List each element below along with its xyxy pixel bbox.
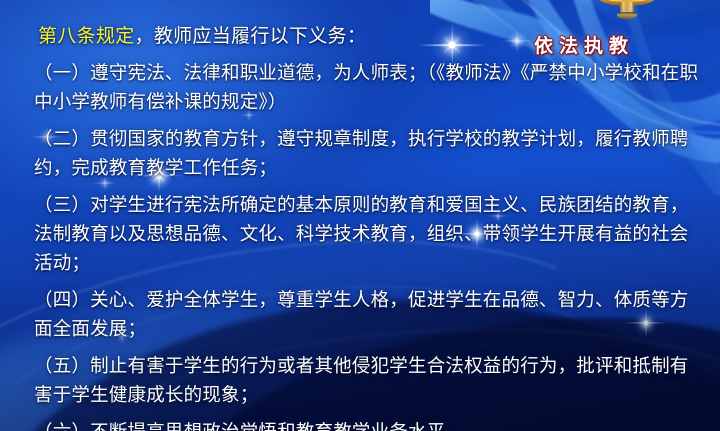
clause-item: （二）贯彻国家的教育方针，遵守规章制度，执行学校的教学计划，履行教师聘约，完成教… — [34, 125, 702, 183]
clause-item: （三）对学生进行宪法所确定的基本原则的教育和爱国主义、民族团结的教育，法制教育以… — [34, 191, 702, 278]
clause-item: （四）关心、爱护全体学生，尊重学生人格，促进学生在品德、智力、体质等方面全面发展… — [34, 286, 702, 344]
page-title-rest: ，教师应当履行以下义务： — [135, 25, 367, 47]
clause-item: （五）制止有害于学生的行为或者其他侵犯学生合法权益的行为，批评和抵制有害于学生健… — [34, 352, 702, 410]
clause-item: （六）不断提高思想政治觉悟和教育教学业务水平。 — [34, 418, 702, 431]
page-title-highlight: 第八条规定 — [38, 25, 135, 47]
slide-body: 第八条规定，教师应当履行以下义务： （一）遵守宪法、法律和职业道德，为人师表；（… — [0, 0, 720, 431]
presentation-slide: 依法执教 — [0, 0, 720, 431]
page-title: 第八条规定，教师应当履行以下义务： — [38, 22, 706, 50]
clause-item: （一）遵守宪法、法律和职业道德，为人师表；（《教师法》《严禁中小学校和在职中小学… — [34, 59, 702, 117]
